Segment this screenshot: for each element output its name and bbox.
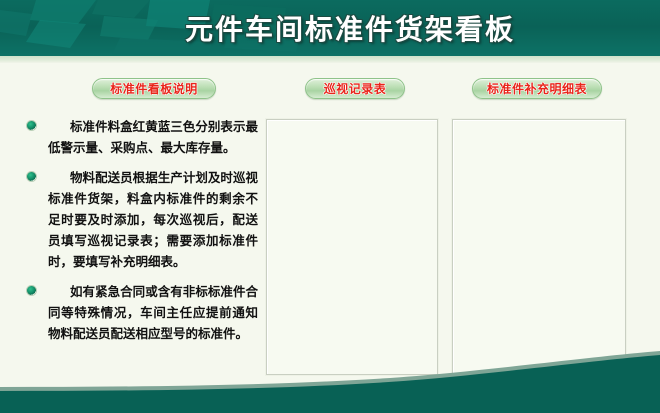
inspection-record-panel[interactable]	[266, 119, 438, 375]
badge-instructions-label: 标准件看板说明	[110, 80, 198, 97]
instructions-list: 标准件料盒红黄蓝三色分别表示最低警示量、采购点、最大库存量。 物料配送员根据生产…	[26, 116, 258, 353]
board-title-text: 元件车间标准件货架看板	[185, 8, 515, 48]
list-item-text: 如有紧急合同或含有非标标准件合同等特殊情况，车间主任应提前通知物料配送员配送相应…	[48, 281, 258, 344]
list-item-text: 标准件料盒红黄蓝三色分别表示最低警示量、采购点、最大库存量。	[48, 116, 258, 158]
bullet-circle-icon	[26, 285, 37, 296]
list-item: 物料配送员根据生产计划及时巡视标准件货架，料盒内标准件的剩余不足时要及时添加，每…	[26, 167, 258, 272]
kanban-board: 元件车间标准件货架看板 标准件看板说明 巡视记录表 标准件补充明细表 标准件料盒…	[0, 0, 660, 413]
footer-swoosh	[0, 351, 660, 413]
list-item: 标准件料盒红黄蓝三色分别表示最低警示量、采购点、最大库存量。	[26, 116, 258, 158]
header-banner: 元件车间标准件货架看板	[0, 0, 660, 56]
badge-instructions: 标准件看板说明	[92, 78, 216, 99]
badge-inspection-record-label: 巡视记录表	[324, 80, 387, 97]
list-item-text: 物料配送员根据生产计划及时巡视标准件货架，料盒内标准件的剩余不足时要及时添加，每…	[48, 167, 258, 272]
board-title: 元件车间标准件货架看板	[0, 0, 660, 56]
badge-inspection-record: 巡视记录表	[305, 78, 405, 99]
bullet-circle-icon	[26, 171, 37, 182]
badge-supplement-detail: 标准件补充明细表	[472, 78, 602, 99]
header-divider-strip	[0, 56, 660, 63]
bullet-circle-icon	[26, 120, 37, 131]
list-item: 如有紧急合同或含有非标标准件合同等特殊情况，车间主任应提前通知物料配送员配送相应…	[26, 281, 258, 344]
badge-supplement-detail-label: 标准件补充明细表	[487, 80, 587, 97]
supplement-detail-panel[interactable]	[452, 119, 626, 375]
